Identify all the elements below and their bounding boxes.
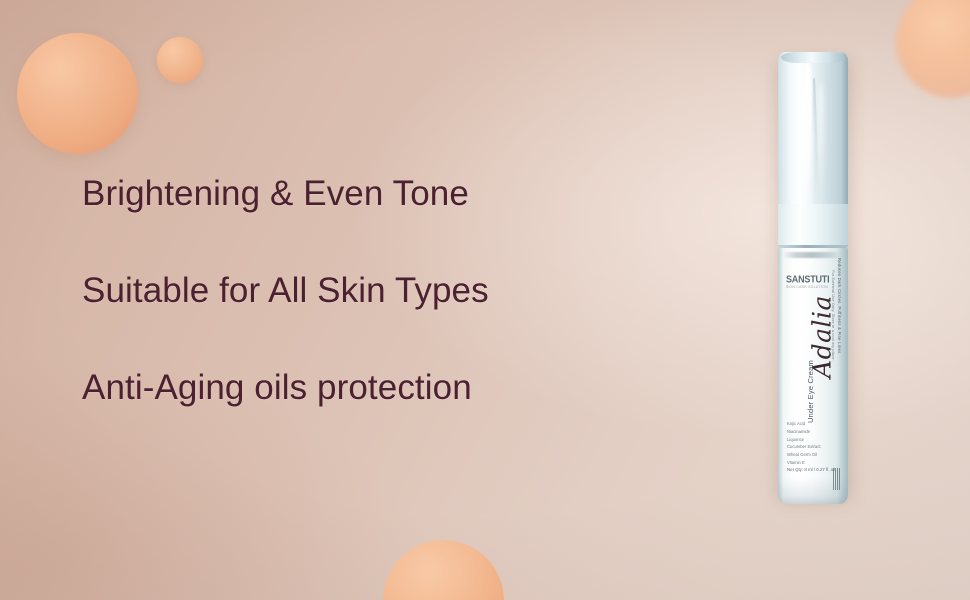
body-left-shading [778,248,783,504]
feature-item-anti-aging: Anti-Aging oils protection [82,370,692,405]
feature-item-brightening: Brightening & Even Tone [82,176,692,211]
large-peach-circle-decoration [17,33,138,154]
cap-lower-band [778,204,848,248]
cap-top-ellipse [781,52,845,63]
product-side-usage-text: For External Use Only. Store in a cool d… [831,270,835,440]
product-body-label: SANSTUTI SKIN CARE SOLUTION Adalia Under… [778,248,848,504]
ingredient-item: Vitamin E [787,459,821,467]
product-image: SANSTUTI SKIN CARE SOLUTION Adalia Under… [775,50,851,506]
feature-item-skin-types: Suitable for All Skin Types [82,273,692,308]
ingredient-item: Wheat Germ Oil [787,451,821,459]
cap-highlight-primary [801,58,814,228]
product-subtitle: Under Eye Cream [806,360,815,423]
product-ingredient-list: Kojic Acid Niacinamide Liquorice Cucumbe… [787,420,821,467]
ingredient-item: Cucumber Extract [787,443,821,451]
product-net-quantity: Net Qty: 8 ml / 0.27 fl. oz. [787,467,837,472]
body-bottom-shading [778,478,848,504]
product-side-claim-text: Reduces Dark Circles, Puffiness & Fine L… [837,258,842,448]
ingredient-item: Niacinamide [787,428,821,436]
product-brand-name: SANSTUTI [786,273,829,285]
small-peach-circle-decoration [157,37,203,83]
product-cap [778,52,848,248]
banner-canvas: Brightening & Even Tone Suitable for All… [0,0,970,600]
ingredient-item: Kojic Acid [787,420,821,428]
ingredient-item: Liquorice [787,436,821,444]
cap-highlight-secondary [818,82,824,202]
body-top-print-line [783,252,841,258]
feature-list: Brightening & Even Tone Suitable for All… [82,176,692,405]
